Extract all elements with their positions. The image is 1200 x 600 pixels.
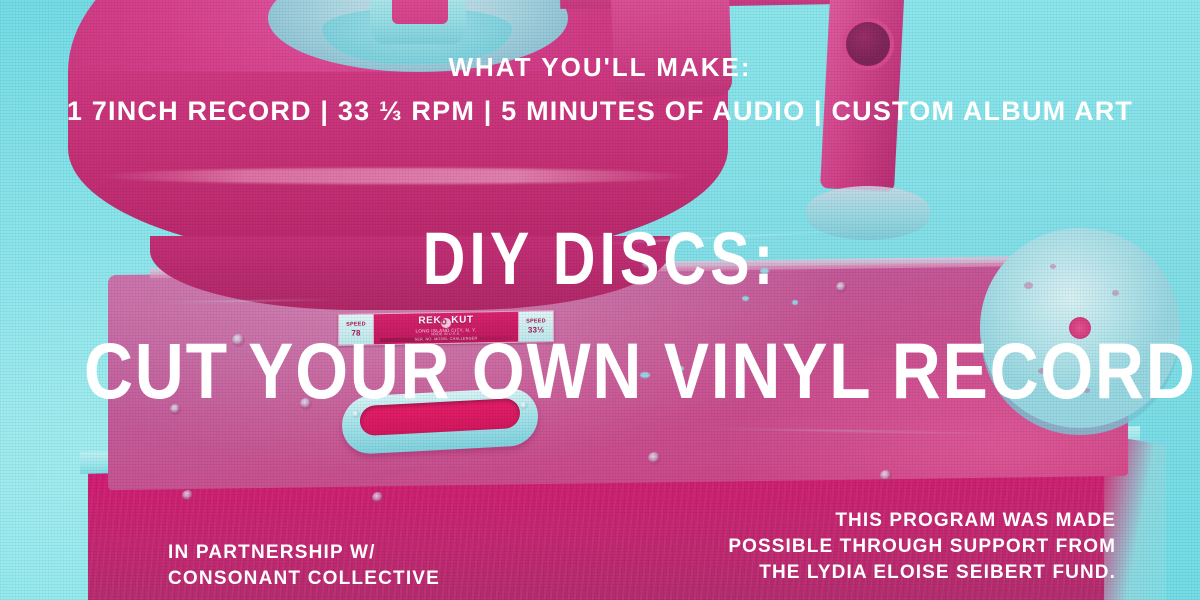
partnership-credit-line: IN PARTNERSHIP W/: [168, 540, 440, 566]
page-title: DIY DISCS:: [120, 222, 1080, 296]
spec-line: 1 7INCH RECORD | 33 ⅓ RPM | 5 MINUTES OF…: [0, 98, 1200, 125]
funding-credit-line: POSSIBLE THROUGH SUPPORT FROM: [728, 534, 1116, 560]
partnership-credit: IN PARTNERSHIP W/ CONSONANT COLLECTIVE: [168, 540, 440, 592]
funding-credit: THIS PROGRAM WAS MADE POSSIBLE THROUGH S…: [728, 508, 1116, 587]
event-banner: SPEED 78 REKOKUT LONG ISLAND CITY, N. Y.…: [0, 0, 1200, 600]
kicker-heading: WHAT YOU'LL MAKE:: [0, 54, 1200, 80]
text-overlay: WHAT YOU'LL MAKE: 1 7INCH RECORD | 33 ⅓ …: [0, 0, 1200, 600]
funding-credit-line: THE LYDIA ELOISE SEIBERT FUND.: [728, 560, 1116, 586]
page-subtitle: CUT YOUR OWN VINYL RECORD: [84, 331, 1116, 410]
partnership-credit-line: CONSONANT COLLECTIVE: [168, 566, 440, 592]
funding-credit-line: THIS PROGRAM WAS MADE: [728, 508, 1116, 534]
